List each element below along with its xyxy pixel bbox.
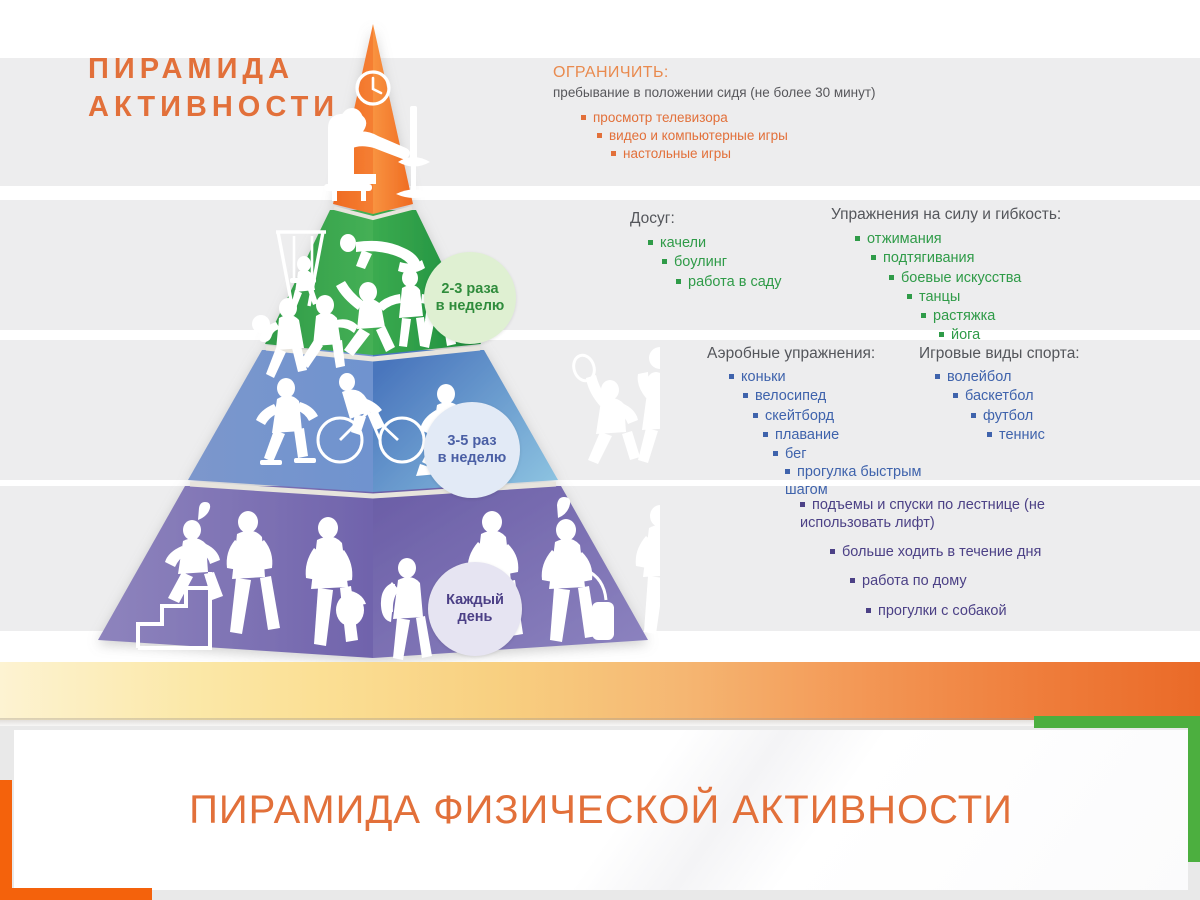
list-item-label: растяжка bbox=[933, 308, 995, 324]
list-item: больше ходить в течение дня bbox=[830, 543, 1090, 562]
badge-tier2-line1: 2-3 раза bbox=[441, 281, 498, 298]
badge-tier3-line2: в неделю bbox=[438, 450, 507, 467]
tier1-list: просмотр телевизора видео и компьютерные… bbox=[581, 109, 1153, 163]
bullet-icon bbox=[850, 578, 855, 583]
tier3-sports-block: Игровые виды спорта: волейбол баскетбол … bbox=[919, 345, 1080, 445]
list-item: бег bbox=[773, 445, 960, 464]
list-item: видео и компьютерные игры bbox=[597, 127, 1153, 145]
title-card: ПИРАМИДА ФИЗИЧЕСКОЙ АКТИВНОСТИ bbox=[14, 730, 1188, 890]
list-item: футбол bbox=[971, 407, 1080, 426]
badge-frequency-tier2: 2-3 раза в неделю bbox=[424, 252, 516, 344]
tier2-strength-header: Упражнения на силу и гибкость: bbox=[831, 206, 1061, 224]
list-item-label: скейтборд bbox=[765, 408, 834, 424]
list-item-label: боевые искусства bbox=[901, 270, 1021, 286]
list-item-label: прогулка быстрым шагом bbox=[785, 464, 922, 497]
list-item: йога bbox=[939, 326, 1061, 345]
badge-frequency-tier4: Каждый день bbox=[428, 562, 522, 656]
list-item-label: боулинг bbox=[674, 254, 727, 270]
list-item-label: видео и компьютерные игры bbox=[609, 128, 788, 143]
list-item: подтягивания bbox=[871, 249, 1061, 268]
green-accent-bar-vertical bbox=[1188, 716, 1200, 862]
list-item: работа в саду bbox=[676, 273, 782, 292]
bullet-icon bbox=[889, 275, 894, 280]
list-item: настольные игры bbox=[611, 145, 1153, 163]
page-title-line1: ПИРАМИДА bbox=[88, 53, 294, 85]
list-item: работа по дому bbox=[850, 572, 1090, 591]
tier1-text-block: ОГРАНИЧИТЬ: пребывание в положении сидя … bbox=[553, 64, 1153, 163]
page-title: ПИРАМИДА АКТИВНОСТИ bbox=[88, 50, 388, 127]
list-item-label: работа по дому bbox=[862, 573, 967, 589]
list-item-label: коньки bbox=[741, 369, 786, 385]
bullet-icon bbox=[729, 374, 734, 379]
tier2-leisure-header: Досуг: bbox=[630, 210, 782, 228]
bullet-icon bbox=[581, 115, 586, 120]
tier1-subheader: пребывание в положении сидя (не более 30… bbox=[553, 85, 1153, 100]
bullet-icon bbox=[871, 255, 876, 260]
bullet-icon bbox=[773, 451, 778, 456]
list-item-label: работа в саду bbox=[688, 274, 782, 290]
list-item: прогулки с собакой bbox=[866, 602, 1090, 621]
list-item-label: бег bbox=[785, 446, 807, 462]
tier4-text-block: подъемы и спуски по лестнице (не использ… bbox=[800, 497, 1090, 621]
list-item-label: йога bbox=[951, 327, 980, 343]
list-item: просмотр телевизора bbox=[581, 109, 1153, 127]
badge-frequency-tier3: 3-5 раз в неделю bbox=[424, 402, 520, 498]
tier1-header: ОГРАНИЧИТЬ: bbox=[553, 64, 1153, 82]
list-item: боевые искусства bbox=[889, 269, 1061, 288]
tier2-strength-block: Упражнения на силу и гибкость: отжимания… bbox=[831, 206, 1061, 346]
list-item-label: танцы bbox=[919, 289, 960, 305]
tier2-leisure-block: Досуг: качели боулинг работа в саду bbox=[630, 210, 782, 292]
badge-tier3-line1: 3-5 раз bbox=[447, 433, 496, 450]
list-item: боулинг bbox=[662, 253, 782, 272]
bullet-icon bbox=[939, 332, 944, 337]
list-item-label: баскетбол bbox=[965, 388, 1034, 404]
bullet-icon bbox=[907, 294, 912, 299]
list-item-label: футбол bbox=[983, 408, 1033, 424]
list-item-label: просмотр телевизора bbox=[593, 110, 728, 125]
bullet-icon bbox=[800, 502, 805, 507]
list-item-label: волейбол bbox=[947, 369, 1011, 385]
list-item-label: теннис bbox=[999, 427, 1045, 443]
list-item: теннис bbox=[987, 426, 1080, 445]
bullet-icon bbox=[987, 432, 992, 437]
bullet-icon bbox=[855, 236, 860, 241]
bullet-icon bbox=[611, 151, 616, 156]
pyramid-artboard: ПИРАМИДА АКТИВНОСТИ bbox=[0, 0, 1200, 662]
bullet-icon bbox=[648, 240, 653, 245]
slide-canvas: ПИРАМИДА АКТИВНОСТИ bbox=[0, 0, 1200, 900]
badge-tier2-line2: в неделю bbox=[436, 298, 505, 315]
bullet-icon bbox=[763, 432, 768, 437]
list-item-label: настольные игры bbox=[623, 146, 731, 161]
list-item-label: подтягивания bbox=[883, 250, 975, 266]
tier3-sports-header: Игровые виды спорта: bbox=[919, 345, 1080, 363]
bullet-icon bbox=[597, 133, 602, 138]
bullet-icon bbox=[753, 413, 758, 418]
tier3-sports-list: волейбол баскетбол футбол теннис bbox=[935, 368, 1080, 445]
list-item: прогулка быстрым шагом bbox=[785, 464, 960, 499]
tier4-list: подъемы и спуски по лестнице (не использ… bbox=[800, 497, 1090, 621]
orange-accent-bar-horizontal bbox=[0, 888, 152, 900]
bullet-icon bbox=[662, 259, 667, 264]
badge-tier4-line1: Каждый bbox=[446, 592, 504, 609]
list-item: баскетбол bbox=[953, 387, 1080, 406]
list-item-label: отжимания bbox=[867, 231, 942, 247]
bullet-icon bbox=[921, 313, 926, 318]
bullet-icon bbox=[866, 608, 871, 613]
bullet-icon bbox=[830, 549, 835, 554]
list-item: волейбол bbox=[935, 368, 1080, 387]
orange-accent-bar-vertical bbox=[0, 780, 12, 900]
bullet-icon bbox=[953, 393, 958, 398]
bullet-icon bbox=[971, 413, 976, 418]
bullet-icon bbox=[785, 469, 790, 474]
list-item: отжимания bbox=[855, 230, 1061, 249]
list-item-label: качели bbox=[660, 235, 706, 251]
bullet-icon bbox=[676, 279, 681, 284]
tier2-leisure-list: качели боулинг работа в саду bbox=[648, 234, 782, 292]
bullet-icon bbox=[743, 393, 748, 398]
list-item: танцы bbox=[907, 288, 1061, 307]
green-accent-bar-horizontal bbox=[1034, 716, 1200, 728]
list-item-label: плавание bbox=[775, 427, 839, 443]
list-item-label: прогулки с собакой bbox=[878, 603, 1007, 619]
list-item: подъемы и спуски по лестнице (не использ… bbox=[800, 497, 1090, 533]
list-item-label: больше ходить в течение дня bbox=[842, 544, 1041, 560]
bullet-icon bbox=[935, 374, 940, 379]
tier2-strength-list: отжимания подтягивания боевые искусства … bbox=[855, 230, 1061, 346]
list-item-label: велосипед bbox=[755, 388, 826, 404]
list-item: растяжка bbox=[921, 307, 1061, 326]
badge-tier4-line2: день bbox=[458, 609, 493, 626]
page-title-line2: АКТИВНОСТИ bbox=[88, 88, 388, 126]
list-item: качели bbox=[648, 234, 782, 253]
main-title: ПИРАМИДА ФИЗИЧЕСКОЙ АКТИВНОСТИ bbox=[189, 785, 1013, 835]
gradient-divider bbox=[0, 662, 1200, 720]
list-item-label: подъемы и спуски по лестнице (не использ… bbox=[800, 497, 1045, 531]
